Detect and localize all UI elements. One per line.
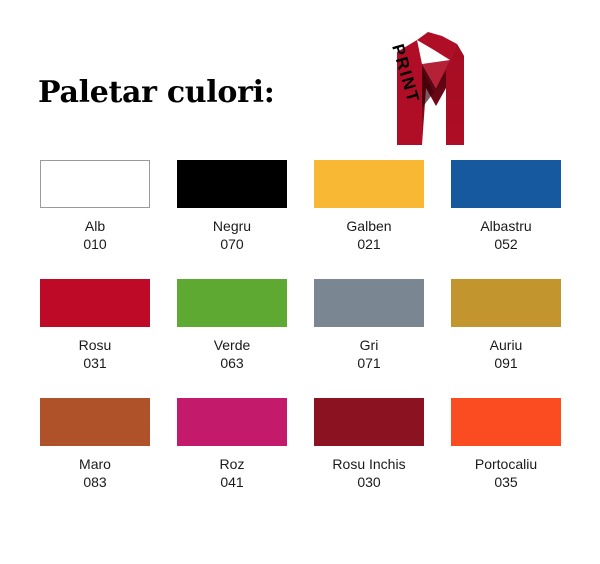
color-code: 031 [83,354,106,372]
color-name: Galben [346,217,391,235]
color-code: 030 [357,473,380,491]
color-cell-negru[interactable]: Negru 070 [177,160,287,253]
page-header: Paletar culori: [0,0,600,150]
print-m-logo: PRINT [362,30,482,145]
color-code: 070 [220,235,243,253]
color-cell-roz[interactable]: Roz 041 [177,398,287,491]
color-code: 021 [357,235,380,253]
color-cell-gri[interactable]: Gri 071 [314,279,424,372]
color-palette-page: Paletar culori: [0,0,600,564]
color-code: 035 [494,473,517,491]
color-swatch-portocaliu[interactable] [451,398,561,446]
color-swatch-maro[interactable] [40,398,150,446]
color-code: 010 [83,235,106,253]
color-name: Negru [213,217,251,235]
color-code: 052 [494,235,517,253]
color-name: Gri [360,336,379,354]
color-swatch-verde[interactable] [177,279,287,327]
color-code: 083 [83,473,106,491]
color-swatch-albastru[interactable] [451,160,561,208]
color-swatch-gri[interactable] [314,279,424,327]
color-name: Albastru [480,217,531,235]
color-swatch-auriu[interactable] [451,279,561,327]
palette-row: Rosu 031 Verde 063 Gri 071 Auriu 091 [40,279,564,372]
color-name: Maro [79,455,111,473]
color-name: Rosu Inchis [332,455,405,473]
color-cell-albastru[interactable]: Albastru 052 [451,160,561,253]
color-cell-alb[interactable]: Alb 010 [40,160,150,253]
color-cell-portocaliu[interactable]: Portocaliu 035 [451,398,561,491]
color-name: Verde [214,336,251,354]
color-name: Rosu [79,336,112,354]
color-code: 063 [220,354,243,372]
color-swatch-alb[interactable] [40,160,150,208]
color-swatch-galben[interactable] [314,160,424,208]
color-code: 041 [220,473,243,491]
color-swatch-rosu[interactable] [40,279,150,327]
color-code: 071 [357,354,380,372]
color-cell-verde[interactable]: Verde 063 [177,279,287,372]
color-swatch-rosu-inchis[interactable] [314,398,424,446]
color-code: 091 [494,354,517,372]
color-cell-rosu-inchis[interactable]: Rosu Inchis 030 [314,398,424,491]
color-swatch-negru[interactable] [177,160,287,208]
color-name: Roz [220,455,245,473]
color-cell-maro[interactable]: Maro 083 [40,398,150,491]
color-cell-rosu[interactable]: Rosu 031 [40,279,150,372]
color-cell-auriu[interactable]: Auriu 091 [451,279,561,372]
color-name: Alb [85,217,105,235]
palette-row: Alb 010 Negru 070 Galben 021 Albastru 05… [40,160,564,253]
palette-grid: Alb 010 Negru 070 Galben 021 Albastru 05… [40,160,564,517]
color-cell-galben[interactable]: Galben 021 [314,160,424,253]
color-swatch-roz[interactable] [177,398,287,446]
page-title: Paletar culori: [38,78,274,108]
palette-row: Maro 083 Roz 041 Rosu Inchis 030 Portoca… [40,398,564,491]
color-name: Portocaliu [475,455,537,473]
color-name: Auriu [490,336,523,354]
